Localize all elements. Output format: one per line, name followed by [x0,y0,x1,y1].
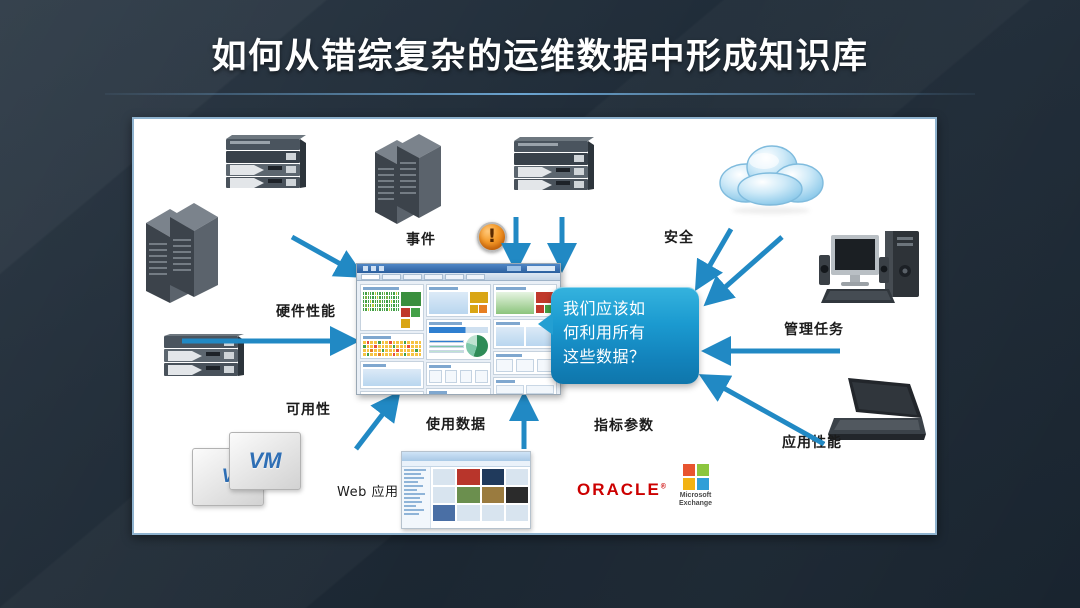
dashboard-widget [360,361,424,389]
label-hardware-performance: 硬件性能 [276,301,336,321]
exchange-line-1: Microsoft [679,492,712,500]
webapp-header [402,452,530,461]
callout-line-2: 何利用所有 [563,321,688,345]
network-device-icon [224,135,310,196]
arrow-cloud-to-bubble [714,237,782,297]
label-metric-parameters: 指标参数 [594,415,654,435]
slide-background: 如何从错综复杂的运维数据中形成知识库 [0,0,1080,608]
monitoring-dashboard-screenshot[interactable] [356,263,561,395]
dashboard-widget [426,319,490,360]
callout-bubble: 我们应该如 何利用所有 这些数据？ [551,287,699,384]
cloud-shadow [732,207,810,214]
dashboard-widget [493,351,557,375]
callout-line-3: 这些数据？ [563,345,688,369]
vm-front-label: VM [249,448,282,474]
label-usage-data: 使用数据 [426,414,486,434]
dashboard-tabs[interactable] [357,273,560,281]
network-device-icon [162,334,248,385]
desktop-pc-icon [817,227,927,318]
page-title: 如何从错综复杂的运维数据中形成知识库 [0,28,1080,79]
label-application-performance: 应用性能 [782,432,842,452]
label-events: 事件 [406,229,436,249]
callout-line-1: 我们应该如 [563,297,688,321]
oracle-logo: ORACLE® [577,480,668,500]
webapp-content-grid [431,467,530,528]
dashboard-title-bar [357,264,560,273]
label-availability: 可用性 [286,399,331,419]
label-web-apps: Web 应用 [337,481,398,500]
exchange-line-2: Exchange [679,500,712,508]
dashboard-widget [360,284,424,331]
network-device-icon [512,137,598,198]
callout-tail [538,313,553,335]
dashboard-pie-chart [466,335,488,357]
dashboard-body [357,281,560,394]
server-rack-icon [371,132,455,224]
arrow-security-to-bubble [702,229,731,279]
web-portal-screenshot[interactable] [401,451,531,529]
exchange-icon [683,464,709,490]
label-management-tasks: 管理任务 [784,319,844,339]
title-divider [105,93,975,95]
arrow-webapp-to-dashboard [356,402,392,449]
dashboard-widget [426,362,490,386]
webapp-sidebar [402,467,431,528]
dashboard-widget [360,333,424,359]
arrow-hardware-to-dashboard [292,237,353,271]
dashboard-widget [493,377,557,395]
oracle-wordmark: ORACLE [577,480,661,499]
vm-card-front: VM [229,432,301,490]
microsoft-exchange-logo: Microsoft Exchange [679,464,712,508]
alert-icon: ! [477,222,507,252]
server-rack-icon [142,199,238,303]
dashboard-widget [426,284,490,317]
label-security: 安全 [664,227,694,247]
dashboard-widget [360,391,424,395]
dashboard-widget [426,388,490,395]
dashboard-stat [401,292,421,306]
oracle-registered-mark: ® [661,483,668,490]
alert-glyph: ! [488,227,497,246]
diagram-canvas: ! [132,117,937,535]
